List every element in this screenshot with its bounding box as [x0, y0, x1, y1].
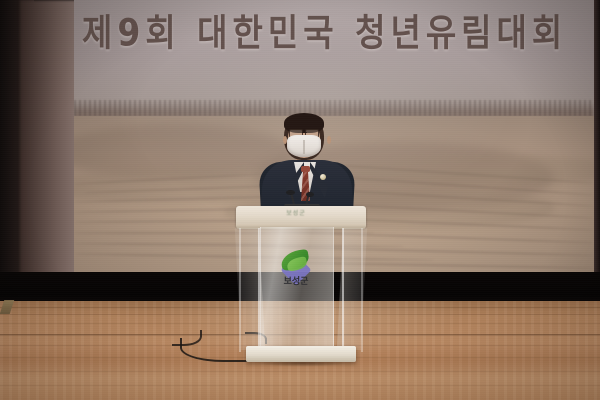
podium-top-emblem: 보성군 — [268, 209, 324, 220]
podium-base-plate — [246, 346, 356, 362]
boseong-county-logo: 보성군 — [280, 250, 312, 286]
speaker-ear-right — [327, 136, 331, 144]
podium-front-panel — [260, 227, 334, 353]
lapel-pin-icon — [320, 174, 326, 180]
podium: 보성군 보성군 — [236, 206, 366, 366]
podium-edge-outer-right — [361, 228, 363, 352]
stage-wall-left-inner — [20, 0, 82, 276]
projected-title: 제9회 대한민국 청년유림대회 — [82, 3, 594, 57]
podium-edge-inner-left — [258, 228, 260, 352]
microphone-head-right — [306, 192, 314, 197]
microphone-head-left — [286, 190, 295, 195]
eyeglass-bridge — [302, 132, 307, 133]
necktie-knot — [301, 166, 310, 172]
podium-edge-outer-left — [239, 228, 241, 352]
event-photo: 제9회 대한민국 청년유림대회 — [0, 0, 600, 400]
face-mask-fold — [303, 140, 305, 154]
podium-edge-inner-right — [342, 228, 344, 352]
logo-label: 보성군 — [276, 274, 316, 287]
